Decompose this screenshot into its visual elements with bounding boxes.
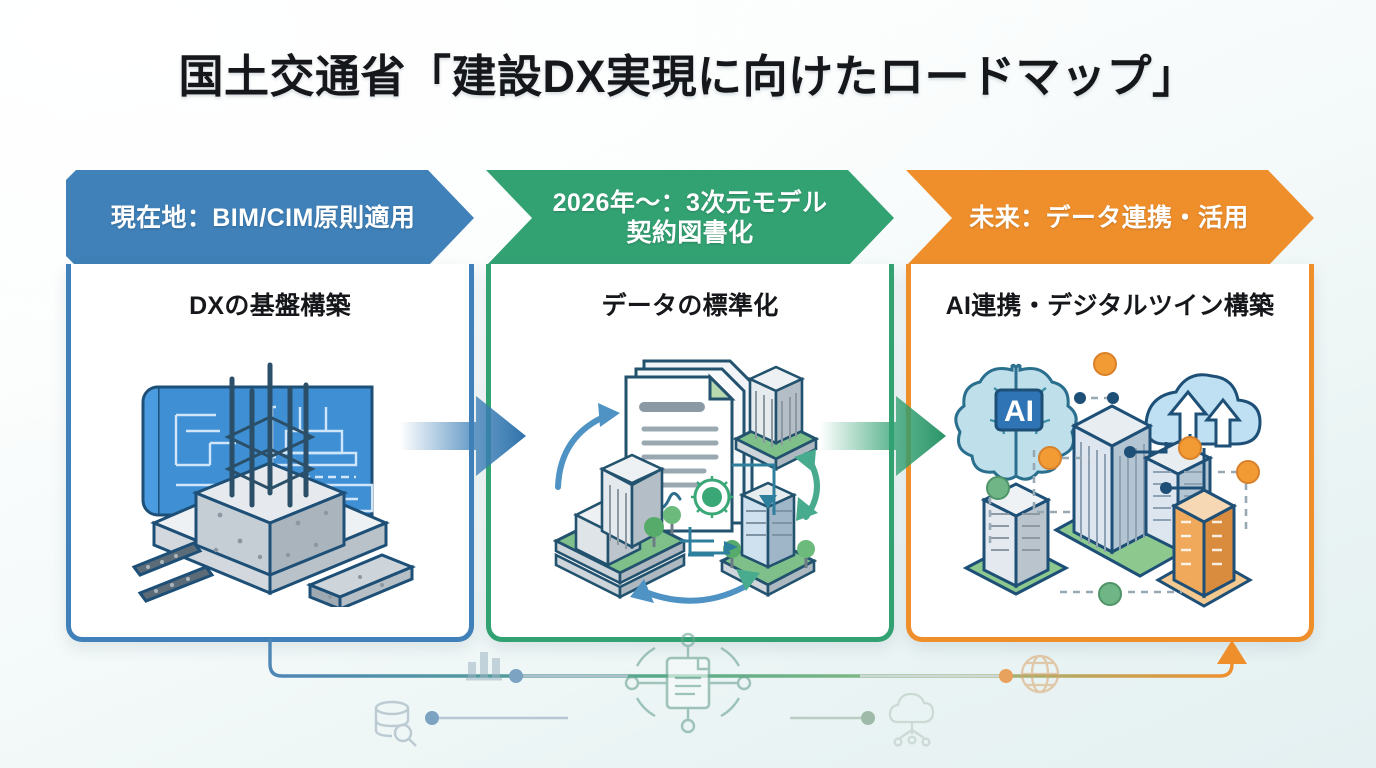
flow-return-arrow bbox=[1217, 640, 1247, 664]
globe-icon bbox=[1022, 656, 1058, 692]
concrete-foundation-rebar-blueprint-icon bbox=[120, 345, 420, 607]
phase-banner-1[interactable]: 現在地：BIM/CIM原則適用 bbox=[66, 170, 474, 266]
ai-cloud-digital-twin-city-icon: AI bbox=[950, 342, 1270, 610]
page-title: 国土交通省「建設DX実現に向けたロードマップ」 bbox=[0, 40, 1376, 105]
cloud-upload-icon bbox=[1146, 375, 1260, 446]
phase-illustration-3: AI bbox=[911, 326, 1309, 626]
bar-chart-icon bbox=[466, 652, 502, 681]
page-title-wrap: 国土交通省「建設DX実現に向けたロードマップ」 bbox=[0, 40, 1376, 105]
cloud-network-icon bbox=[890, 694, 933, 745]
flow-node-chart bbox=[509, 669, 523, 683]
arrow-phase2-to-phase3 bbox=[818, 392, 948, 480]
flow-node-db bbox=[425, 711, 439, 725]
ai-chip-label: AI bbox=[1004, 395, 1034, 428]
database-search-icon bbox=[376, 702, 416, 746]
flow-node-cloud bbox=[861, 711, 875, 725]
phase-banner-label-2: 2026年〜：3次元モデル 契約図書化 bbox=[553, 188, 828, 249]
phase-column-3: 未来：データ連携・活用 AI連携・デジタルツイン構築 AI bbox=[906, 170, 1314, 642]
phase-banner-label-3: 未来：データ連携・活用 bbox=[969, 203, 1248, 234]
phase-card-title-3: AI連携・デジタルツイン構築 bbox=[911, 264, 1309, 322]
phase-card-3[interactable]: AI連携・デジタルツイン構築 AI bbox=[906, 264, 1314, 642]
phase-banner-line-2b: 契約図書化 bbox=[626, 219, 753, 247]
phase-card-title-1: DXの基盤構築 bbox=[71, 264, 469, 322]
phase-banner-3[interactable]: 未来：データ連携・活用 bbox=[906, 170, 1314, 266]
phase-banner-label-1: 現在地：BIM/CIM原則適用 bbox=[111, 203, 416, 234]
flow-node-globe bbox=[999, 669, 1013, 683]
contract-documents-buildings-cycle-icon bbox=[540, 345, 840, 607]
bottom-flow-connector bbox=[0, 600, 1376, 768]
phase-banner-2[interactable]: 2026年〜：3次元モデル 契約図書化 bbox=[486, 170, 894, 266]
phase-card-title-2: データの標準化 bbox=[491, 264, 889, 322]
slide-root: 国土交通省「建設DX実現に向けたロードマップ」 現在地：BIM/CIM原則適用 … bbox=[0, 0, 1376, 768]
arrow-phase1-to-phase2 bbox=[398, 392, 528, 480]
document-network-icon bbox=[626, 634, 750, 732]
phase-banner-line-2a: 2026年〜：3次元モデル bbox=[553, 189, 828, 217]
